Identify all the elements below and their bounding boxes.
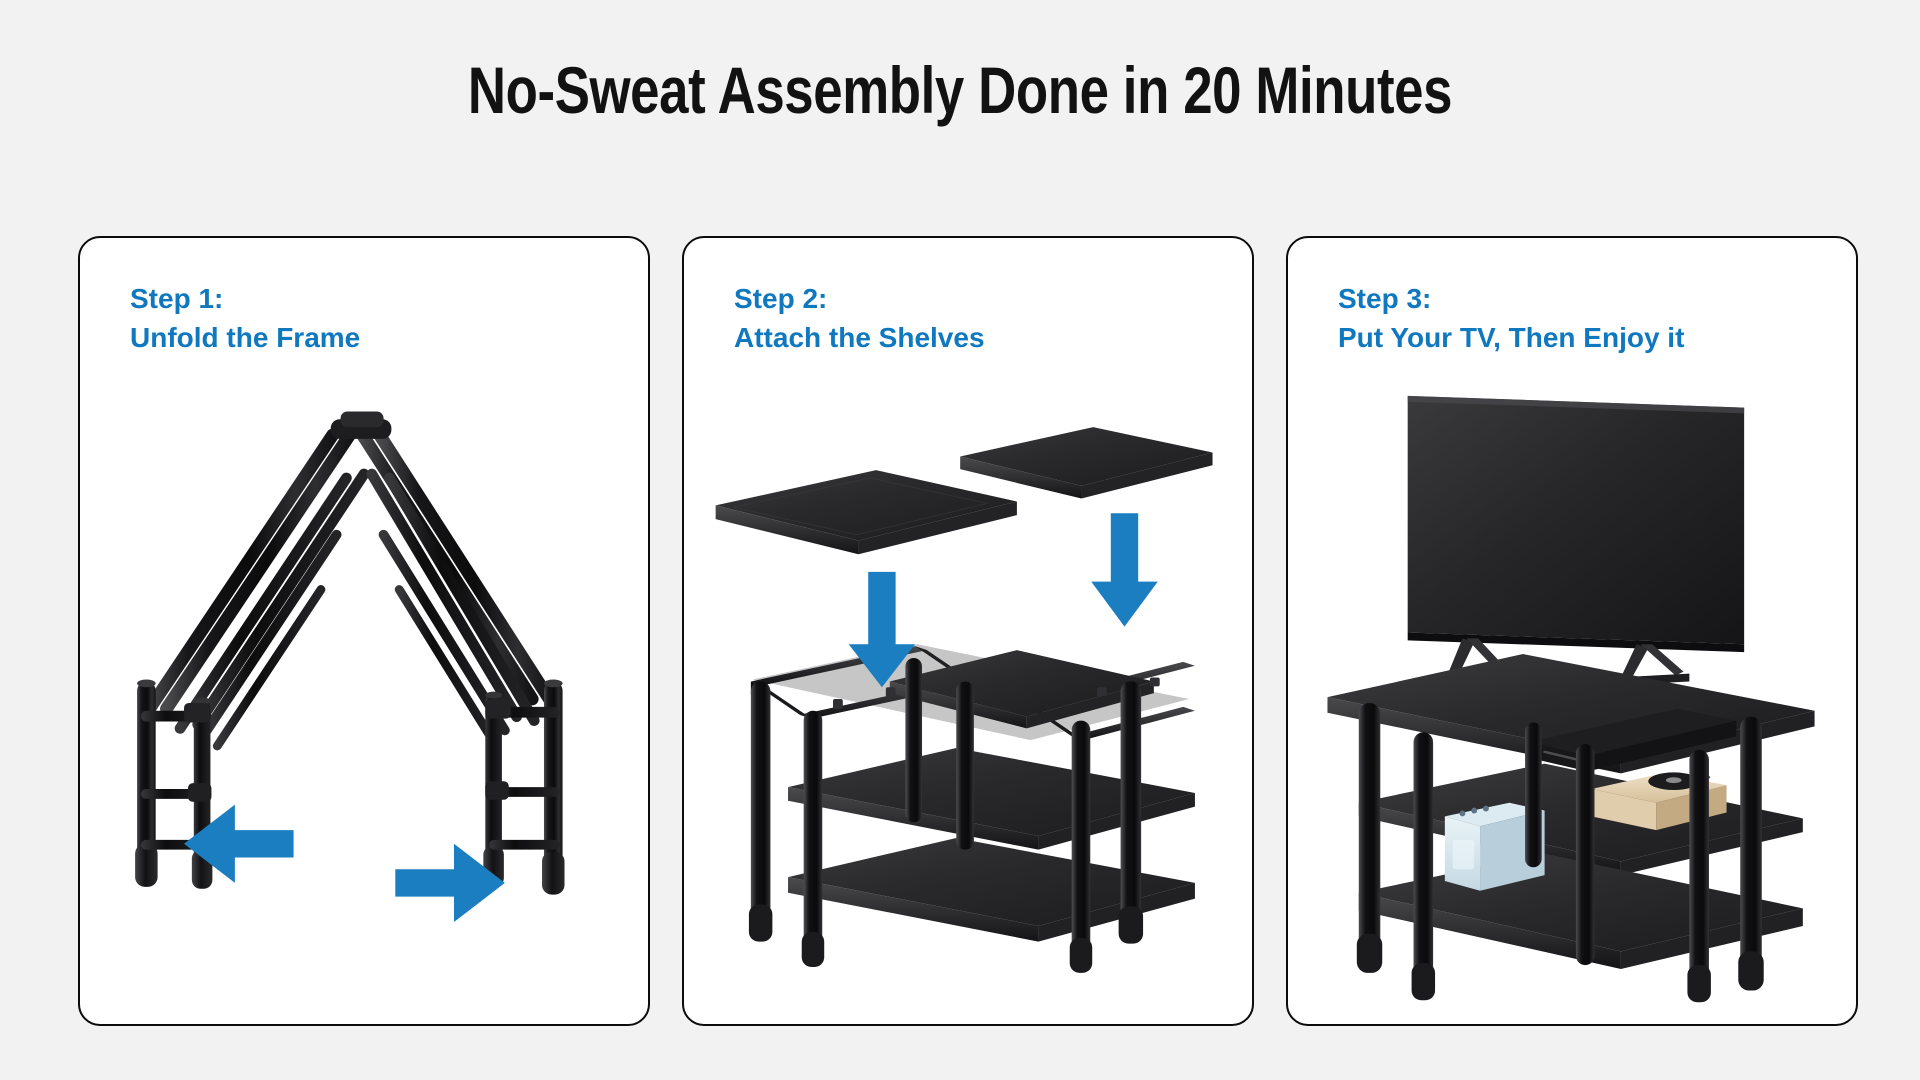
step-3-label: Step 3: Put Your TV, Then Enjoy it: [1338, 280, 1684, 357]
step-2-description: Attach the Shelves: [734, 319, 985, 358]
frame-apex-hinge: [331, 411, 392, 438]
step-card-1: Step 1: Unfold the Frame: [78, 236, 650, 1026]
step-card-3: Step 3: Put Your TV, Then Enjoy it: [1286, 236, 1858, 1026]
step-2-illustration: [684, 388, 1252, 1014]
steps-container: Step 1: Unfold the Frame: [78, 236, 1858, 1026]
step-1-description: Unfold the Frame: [130, 319, 360, 358]
step-3-description: Put Your TV, Then Enjoy it: [1338, 319, 1684, 358]
leg-left-outer: [135, 679, 157, 886]
frame-right-half: [360, 431, 564, 895]
page-title: No-Sweat Assembly Done in 20 Minutes: [192, 52, 1728, 128]
step-2-label: Step 2: Attach the Shelves: [734, 280, 985, 357]
step-1-label: Step 1: Unfold the Frame: [130, 280, 360, 357]
television: [1408, 396, 1744, 686]
infographic-page: No-Sweat Assembly Done in 20 Minutes Ste…: [0, 0, 1920, 1080]
frame-left-half: [135, 431, 364, 889]
step-3-title: Step 3:: [1338, 283, 1431, 314]
step-1-illustration: [80, 388, 648, 1014]
floating-shelf-left: [716, 470, 1017, 554]
step-1-title: Step 1:: [130, 283, 223, 314]
step-3-illustration: [1288, 388, 1856, 1014]
tv-stand-frame: [749, 644, 1195, 973]
arrow-down-right-icon: [1091, 513, 1158, 626]
step-card-2: Step 2: Attach the Shelves: [682, 236, 1254, 1026]
floating-shelf-right: [960, 427, 1212, 498]
assembled-tv-stand: [1327, 654, 1814, 1002]
step-2-title: Step 2:: [734, 283, 827, 314]
